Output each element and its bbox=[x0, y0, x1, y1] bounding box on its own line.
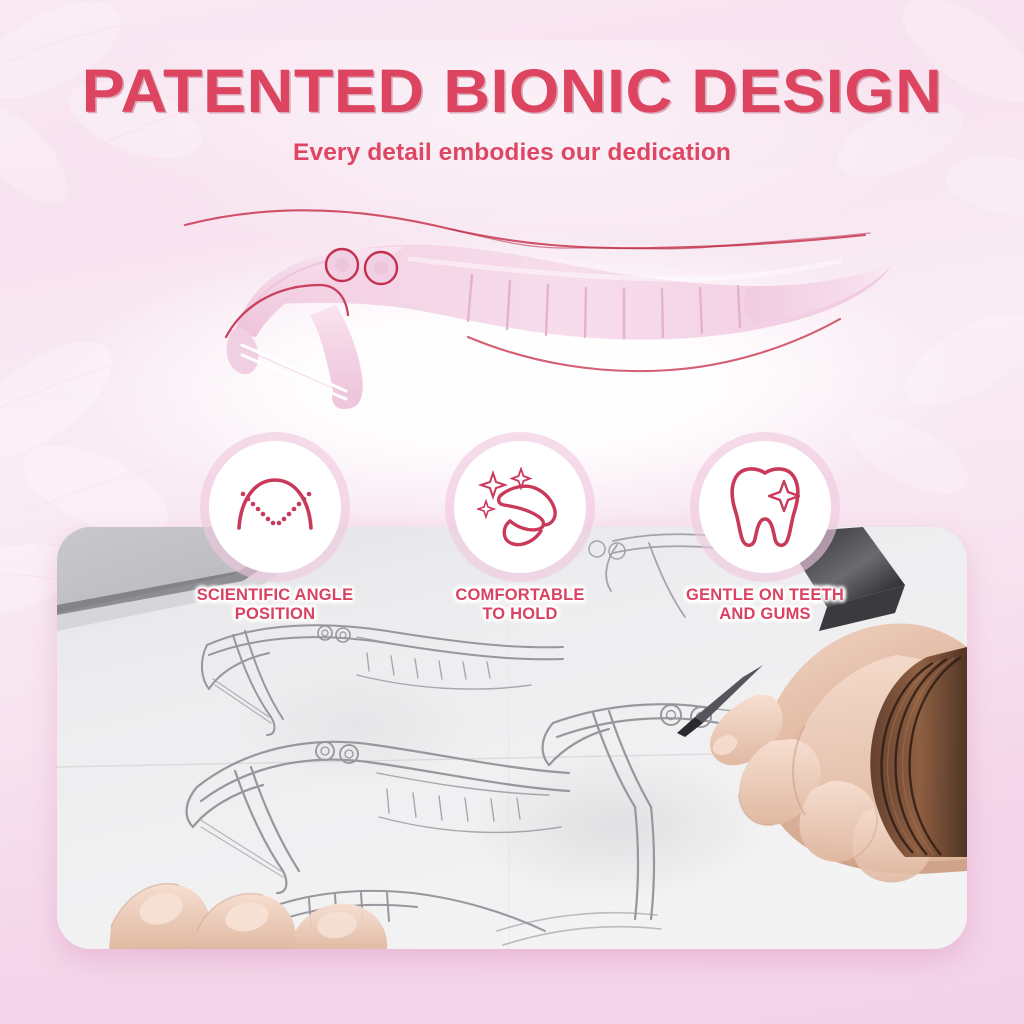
badge-circle bbox=[209, 441, 341, 573]
feature-badge-scientific-angle[interactable]: SCIENTIFIC ANGLE POSITION bbox=[175, 441, 375, 623]
feature-badges: SCIENTIFIC ANGLE POSITION bbox=[0, 441, 1024, 626]
tooth-sparkle-icon bbox=[726, 465, 804, 549]
poster-canvas: PATENTED BIONIC DESIGN Every detail embo… bbox=[0, 0, 1024, 1024]
product-illustration bbox=[150, 185, 910, 415]
header: PATENTED BIONIC DESIGN Every detail embo… bbox=[0, 0, 1024, 167]
badge-circle bbox=[699, 441, 831, 573]
feature-badge-gentle-teeth[interactable]: GENTLE ON TEETH AND GUMS bbox=[665, 441, 865, 623]
hand-grip-icon bbox=[477, 467, 563, 547]
dental-arch-icon bbox=[234, 472, 316, 542]
feature-badge-label: SCIENTIFIC ANGLE POSITION bbox=[175, 586, 375, 623]
feature-badge-label: GENTLE ON TEETH AND GUMS bbox=[665, 586, 865, 623]
feature-badge-label: COMFORTABLE TO HOLD bbox=[420, 586, 620, 623]
feature-badge-comfortable-hold[interactable]: COMFORTABLE TO HOLD bbox=[420, 441, 620, 623]
badge-circle bbox=[454, 441, 586, 573]
page-subtitle: Every detail embodies our dedication bbox=[0, 139, 1024, 167]
page-title: PATENTED BIONIC DESIGN bbox=[0, 61, 1024, 122]
